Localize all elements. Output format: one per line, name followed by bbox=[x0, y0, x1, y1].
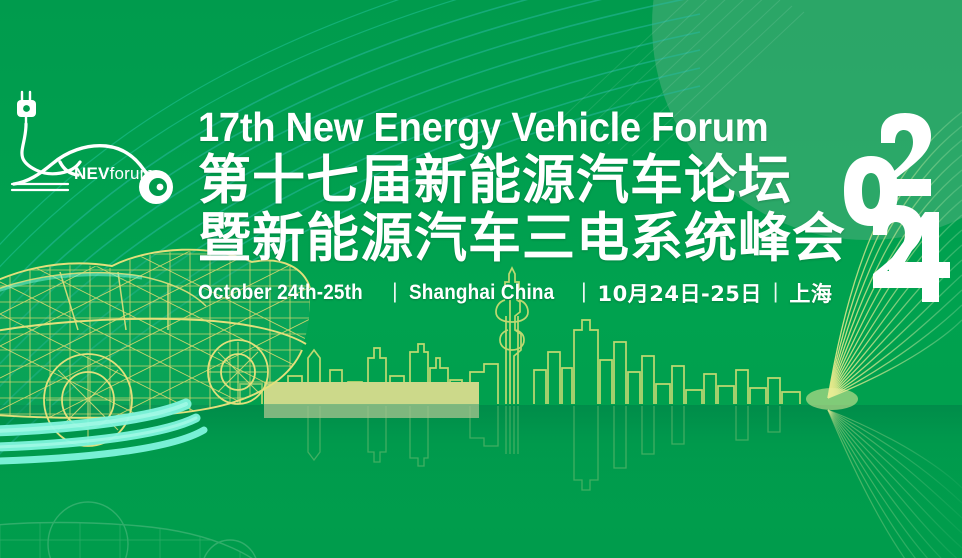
meta-separator-1: | bbox=[392, 280, 397, 304]
road-bar bbox=[264, 382, 479, 404]
nevforum-logo[interactable]: NEVforum bbox=[6, 78, 184, 214]
road-bar-reflection bbox=[264, 404, 479, 418]
page-title-chinese-line1: 第十七届新能源汽车论坛 bbox=[198, 152, 834, 210]
year-2024-graphic bbox=[843, 112, 955, 308]
logo-word-nev: NEV bbox=[74, 164, 110, 183]
event-meta-line: October 24th-25th | Shanghai China | 10月… bbox=[198, 278, 834, 308]
title-block: 17th New Energy Vehicle Forum 第十七届新能源汽车论… bbox=[198, 104, 834, 308]
wheel-hub bbox=[157, 184, 164, 191]
logo-wordmark: NEVforum bbox=[74, 164, 154, 184]
page-title-chinese-line2: 暨新能源汽车三电系统峰会 bbox=[198, 210, 834, 268]
event-location-english: Shanghai China bbox=[409, 281, 554, 305]
meta-separator-3: | bbox=[773, 280, 778, 304]
event-date-english: October 24th-25th bbox=[198, 281, 363, 305]
water-reflection-plane bbox=[0, 405, 962, 558]
meta-separator-2: | bbox=[581, 280, 586, 304]
event-banner: NEVforum 17th New Energy Vehicle Forum 第… bbox=[0, 0, 962, 558]
logo-graphic bbox=[6, 78, 184, 214]
event-location-chinese: 上海 bbox=[789, 278, 832, 308]
event-date-chinese: 10月24日-25日 bbox=[598, 278, 762, 308]
charging-plug-icon bbox=[22, 92, 30, 100]
logo-word-forum: forum bbox=[110, 164, 154, 183]
page-title-english: 17th New Energy Vehicle Forum bbox=[198, 104, 789, 150]
year-digits bbox=[843, 112, 955, 308]
plug-hole bbox=[23, 105, 30, 112]
